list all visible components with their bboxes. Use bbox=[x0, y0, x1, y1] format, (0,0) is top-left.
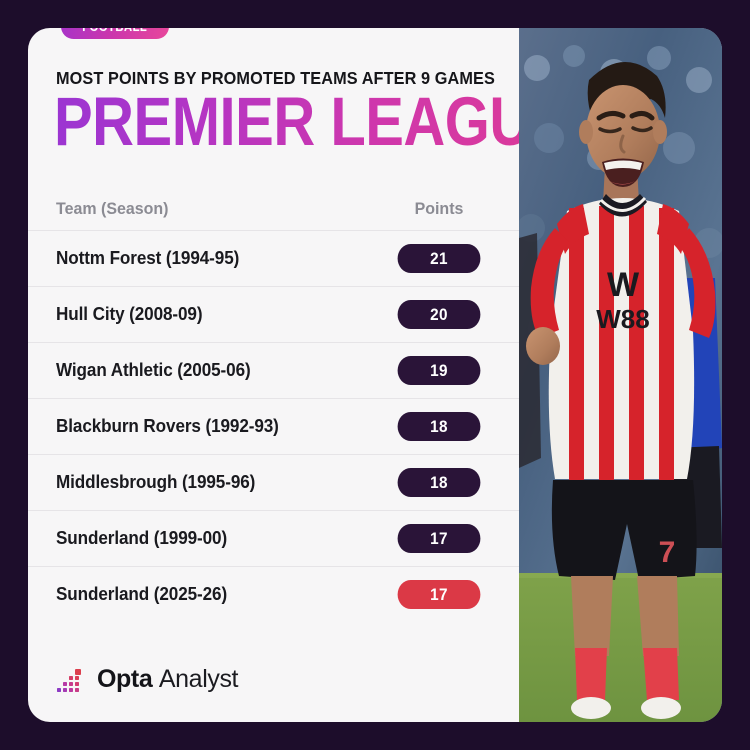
points-cell: 21 bbox=[359, 244, 519, 273]
page-title: PREMIER LEAGUE bbox=[54, 88, 569, 156]
infographic-root: FOOTBALL MOST POINTS BY PROMOTED TEAMS A… bbox=[0, 0, 750, 750]
table-header-row: Team (Season) Points bbox=[28, 188, 519, 230]
points-cell: 19 bbox=[359, 356, 519, 385]
column-header-team: Team (Season) bbox=[56, 199, 341, 219]
table-row[interactable]: Sunderland (1999-00) 17 bbox=[28, 510, 519, 566]
table-row[interactable]: Wigan Athletic (2005-06) 19 bbox=[28, 342, 519, 398]
points-pill: 17 bbox=[398, 524, 481, 553]
team-label: Wigan Athletic (2005-06) bbox=[56, 360, 344, 381]
team-label: Blackburn Rovers (1992-93) bbox=[56, 416, 344, 437]
points-cell: 17 bbox=[359, 524, 519, 553]
team-label: Nottm Forest (1994-95) bbox=[56, 248, 344, 269]
points-pill: 20 bbox=[398, 300, 481, 329]
points-cell: 17 bbox=[359, 580, 519, 609]
team-label: Sunderland (1999-00) bbox=[56, 528, 344, 549]
svg-text:7: 7 bbox=[659, 536, 676, 569]
points-pill: 19 bbox=[398, 356, 481, 385]
player-photo: W W88 7 bbox=[519, 28, 722, 722]
category-badge[interactable]: FOOTBALL bbox=[61, 28, 169, 39]
points-pill: 21 bbox=[398, 244, 481, 273]
svg-text:W: W bbox=[607, 266, 640, 304]
column-header-points: Points bbox=[364, 199, 514, 219]
brand-analyst: Analyst bbox=[159, 665, 238, 693]
team-label: Hull City (2008-09) bbox=[56, 304, 344, 325]
table-row[interactable]: Nottm Forest (1994-95) 21 bbox=[28, 230, 519, 286]
points-cell: 20 bbox=[359, 300, 519, 329]
brand-footer[interactable]: Opta Analyst bbox=[56, 664, 238, 694]
team-label: Sunderland (2025-26) bbox=[56, 584, 344, 605]
category-badge-label: FOOTBALL bbox=[82, 28, 147, 34]
table-row[interactable]: Hull City (2008-09) 20 bbox=[28, 286, 519, 342]
points-pill: 18 bbox=[398, 412, 481, 441]
team-label: Middlesbrough (1995-96) bbox=[56, 472, 344, 493]
points-table: Team (Season) Points Nottm Forest (1994-… bbox=[28, 188, 519, 622]
table-row[interactable]: Blackburn Rovers (1992-93) 18 bbox=[28, 398, 519, 454]
svg-text:W88: W88 bbox=[596, 304, 649, 334]
points-cell: 18 bbox=[359, 468, 519, 497]
opta-staircase-icon bbox=[56, 664, 86, 694]
left-column: FOOTBALL MOST POINTS BY PROMOTED TEAMS A… bbox=[28, 28, 519, 722]
table-row[interactable]: Middlesbrough (1995-96) 18 bbox=[28, 454, 519, 510]
points-pill: 18 bbox=[398, 468, 481, 497]
points-pill-highlighted: 17 bbox=[398, 580, 481, 609]
brand-wordmark: Opta Analyst bbox=[97, 665, 238, 694]
points-cell: 18 bbox=[359, 412, 519, 441]
brand-opta: Opta bbox=[97, 665, 152, 693]
table-row-highlighted[interactable]: Sunderland (2025-26) 17 bbox=[28, 566, 519, 622]
content-card: FOOTBALL MOST POINTS BY PROMOTED TEAMS A… bbox=[28, 28, 722, 722]
